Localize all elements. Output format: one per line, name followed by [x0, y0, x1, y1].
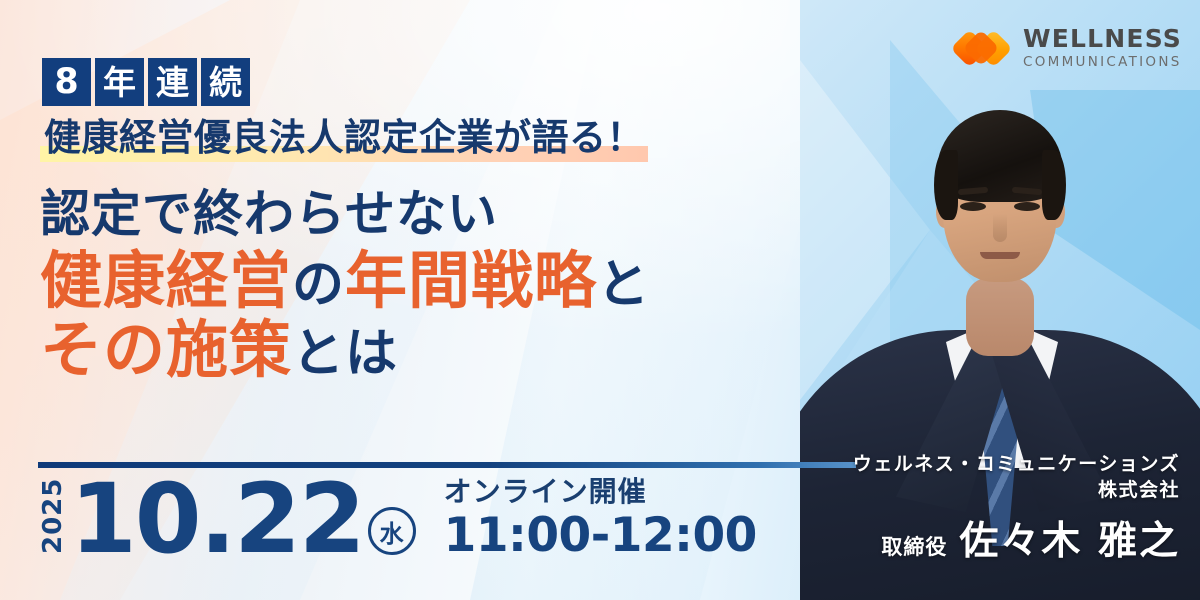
- logo-main-text: WELLNESS: [1023, 26, 1182, 51]
- subtitle-block: 健康経営優良法人認定企業が語る！: [40, 116, 648, 162]
- event-day-of-week: 水: [368, 507, 416, 555]
- event-time-block: オンライン開催 11:00-12:00: [444, 470, 757, 559]
- speaker-org-line-1: ウェルネス・コミュニケーションズ: [853, 452, 1180, 478]
- event-date: 10.22: [70, 475, 364, 563]
- headline-line-2: 健康経営の年間戦略と: [40, 248, 650, 313]
- hair-side-right: [1042, 150, 1066, 220]
- headline-l2-part-1: の: [292, 255, 345, 315]
- eye-left: [960, 202, 986, 211]
- badge-cell-1: 年: [95, 58, 144, 106]
- wellness-logo: WELLNESS COMMUNICATIONS: [956, 26, 1182, 70]
- webinar-banner: WELLNESS COMMUNICATIONS 8 年 連 続 健康経営優良法人…: [0, 0, 1200, 600]
- mouth: [980, 252, 1020, 259]
- badge-cell-2: 連: [148, 58, 197, 106]
- logo-sub-text: COMMUNICATIONS: [1023, 56, 1182, 70]
- speaker-info: ウェルネス・コミュニケーションズ 株式会社 取締役 佐々木 雅之: [853, 452, 1180, 566]
- headline-l2-part-3: と: [597, 255, 650, 315]
- nose: [993, 214, 1007, 242]
- speaker-name: 佐々木 雅之: [959, 510, 1180, 566]
- headline-l2-part-2: 年間戦略: [345, 244, 597, 317]
- headline-block: 認定で終わらせない 健康経営の年間戦略と その施策とは: [40, 188, 650, 382]
- headline-line-3: その施策とは: [40, 317, 650, 382]
- subtitle-text: 健康経営優良法人認定企業が語る！: [44, 116, 644, 160]
- streak-badge: 8 年 連 続: [42, 58, 250, 106]
- speaker-name-row: 取締役 佐々木 雅之: [853, 510, 1180, 566]
- badge-cell-0: 8: [42, 58, 91, 106]
- headline-l3-part-1: とは: [292, 324, 398, 384]
- event-format-label: オンライン開催: [444, 470, 757, 510]
- headline-l2-part-0: 健康経営: [40, 244, 292, 317]
- eye-right: [1014, 202, 1040, 211]
- neck: [966, 278, 1034, 356]
- speaker-title: 取締役: [881, 531, 947, 561]
- headline-line-1: 認定で終わらせない: [40, 188, 650, 241]
- event-time-range: 11:00-12:00: [444, 512, 757, 559]
- wellness-diamond-logo-icon: [956, 28, 1010, 68]
- event-datetime-block: 2025 10.22 水 オンライン開催 11:00-12:00: [38, 470, 757, 563]
- headline-l3-part-0: その施策: [40, 313, 292, 386]
- badge-cell-3: 続: [201, 58, 250, 106]
- event-year: 2025: [38, 473, 68, 559]
- logo-wordmark: WELLNESS COMMUNICATIONS: [1023, 26, 1182, 70]
- hair-side-left: [934, 150, 958, 220]
- speaker-org-line-2: 株式会社: [853, 478, 1180, 504]
